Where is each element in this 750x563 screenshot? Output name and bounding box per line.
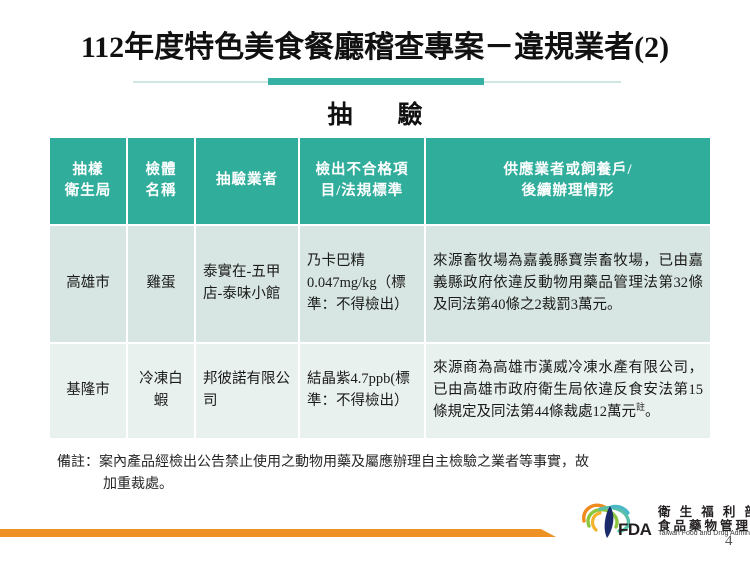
fda-logo: FDA 衛 生 福 利 部 食品藥物管理署 Taiwan Food and Dr… <box>580 500 740 542</box>
cell-violation: 結晶紫4.7ppb(標準：不得檢出） <box>300 344 426 440</box>
table-note-line1: 備註：案內產品經檢出公告禁止使用之動物用藥及屬應辦理自主檢驗之業者等事實，故 <box>57 455 589 470</box>
cell-followup: 來源商為高雄市漢威冷凍水產有限公司，已由高雄市政府衛生局依違反食安法第15條規定… <box>426 344 710 440</box>
slide: 112年度特色美食餐廳稽查專案－違規業者(2) 抽 驗 抽樣 衛生局 檢體 名稱… <box>0 0 750 563</box>
cell-followup-text: 來源商為高雄市漢威冷凍水產有限公司，已由高雄市政府衛生局依違反食安法第15條規定… <box>433 360 703 420</box>
title-divider <box>133 78 621 86</box>
column-header-sample-name: 檢體 名稱 <box>128 138 196 226</box>
table-row: 高雄市 雞蛋 泰實在-五甲店-泰味小館 乃卡巴精0.047mg/kg（標準：不得… <box>50 226 710 344</box>
column-header-business-label: 抽驗業者 <box>216 172 278 188</box>
inspection-table: 抽樣 衛生局 檢體 名稱 抽驗業者 檢出不合格項 目/法規標準 供應業者或飼養戶… <box>50 138 710 440</box>
column-header-violation-line2: 目/法規標準 <box>321 183 404 199</box>
table-header-row: 抽樣 衛生局 檢體 名稱 抽驗業者 檢出不合格項 目/法規標準 供應業者或飼養戶… <box>50 138 710 226</box>
cell-sample-name: 冷凍白蝦 <box>128 344 196 440</box>
column-header-violation-line1: 檢出不合格項 <box>316 162 409 178</box>
cell-followup-note-mark: 註 <box>636 402 645 412</box>
title-divider-thick <box>268 78 484 85</box>
section-subtitle: 抽 驗 <box>0 95 750 131</box>
column-header-followup-line1: 供應業者或飼養戶/ <box>503 162 632 178</box>
column-header-violation: 檢出不合格項 目/法規標準 <box>300 138 426 226</box>
page-number: 4 <box>725 533 733 550</box>
cell-business: 邦彼諾有限公司 <box>196 344 300 440</box>
cell-sample-name: 雞蛋 <box>128 226 196 344</box>
cell-bureau: 基隆市 <box>50 344 128 440</box>
column-header-followup: 供應業者或飼養戶/ 後續辦理情形 <box>426 138 710 226</box>
column-header-sample-name-line1: 檢體 <box>146 162 177 178</box>
table-row: 基隆市 冷凍白蝦 邦彼諾有限公司 結晶紫4.7ppb(標準：不得檢出） 來源商為… <box>50 344 710 440</box>
cell-violation: 乃卡巴精0.047mg/kg（標準：不得檢出） <box>300 226 426 344</box>
cell-business: 泰實在-五甲店-泰味小館 <box>196 226 300 344</box>
column-header-bureau: 抽樣 衛生局 <box>50 138 128 226</box>
table-header: 抽樣 衛生局 檢體 名稱 抽驗業者 檢出不合格項 目/法規標準 供應業者或飼養戶… <box>50 138 710 226</box>
page-title: 112年度特色美食餐廳稽查專案－違規業者(2) <box>0 22 750 66</box>
fda-en-name: Taiwan Food and Drug Administration <box>658 530 750 537</box>
footer-accent-bar <box>0 529 556 537</box>
column-header-followup-line2: 後續辦理情形 <box>522 183 615 199</box>
cell-bureau: 高雄市 <box>50 226 128 344</box>
column-header-bureau-line2: 衛生局 <box>65 183 112 199</box>
fda-abbr-text: FDA <box>618 520 651 540</box>
column-header-sample-name-line2: 名稱 <box>146 183 177 199</box>
column-header-bureau-line1: 抽樣 <box>73 162 104 178</box>
cell-followup-tail: 。 <box>645 404 660 420</box>
table-note: 備註：案內產品經檢出公告禁止使用之動物用藥及屬應辦理自主檢驗之業者等事實，故 加… <box>57 452 717 497</box>
cell-followup: 來源畜牧場為嘉義縣寶崇畜牧場，已由嘉義縣政府依違反動物用藥品管理法第32條及同法… <box>426 226 710 344</box>
column-header-business: 抽驗業者 <box>196 138 300 226</box>
table-body: 高雄市 雞蛋 泰實在-五甲店-泰味小館 乃卡巴精0.047mg/kg（標準：不得… <box>50 226 710 440</box>
table-note-line2: 加重裁處。 <box>57 474 717 496</box>
